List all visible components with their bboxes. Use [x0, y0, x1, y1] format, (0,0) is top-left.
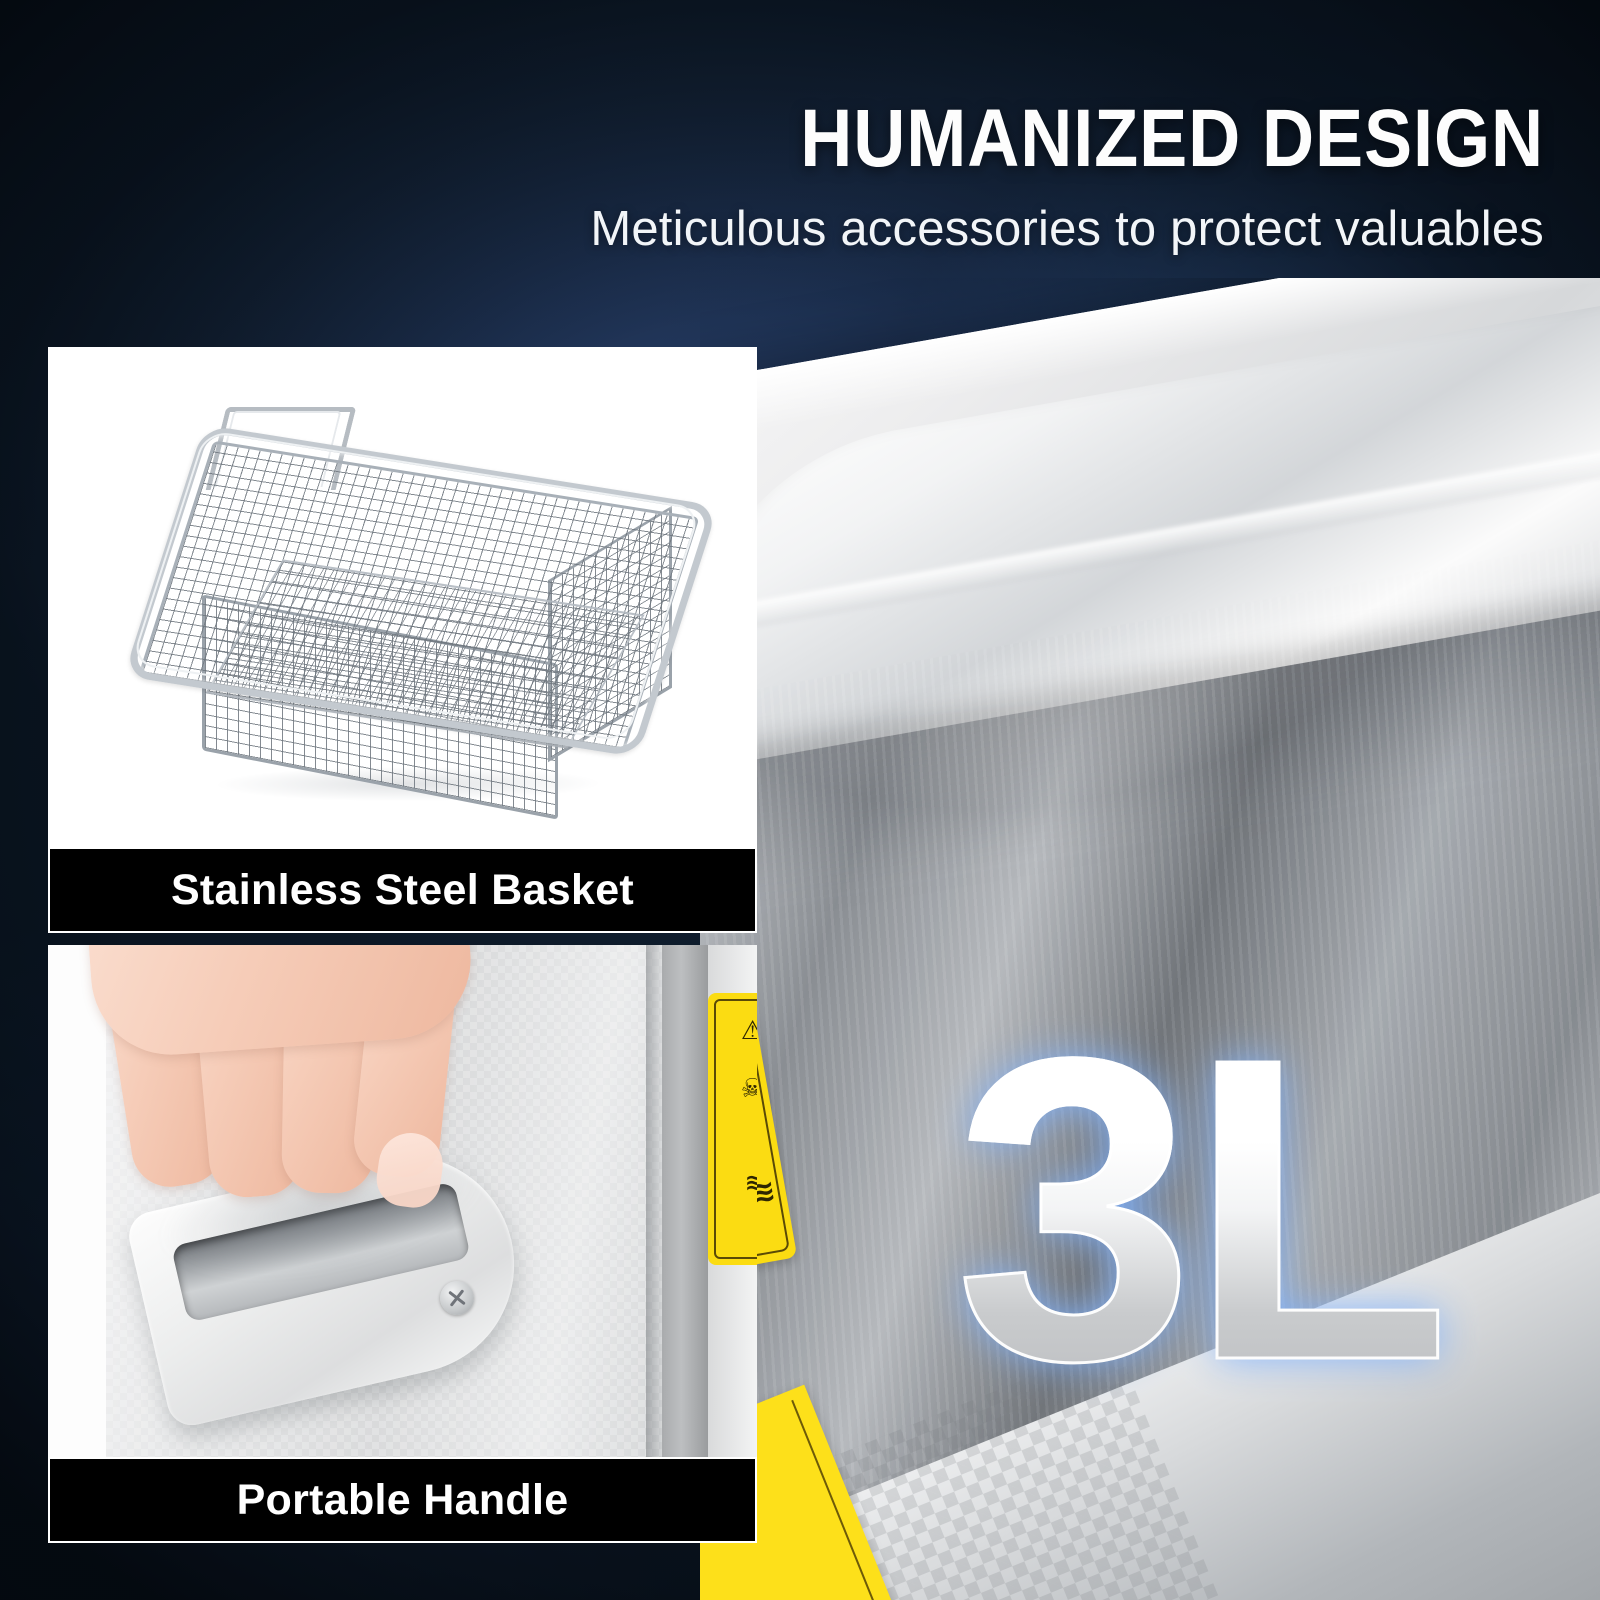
- basket-photo: [48, 347, 757, 847]
- page-subtitle: Meticulous accessories to protect valuab…: [0, 198, 1544, 260]
- caption-bar-basket: Stainless Steel Basket: [48, 847, 757, 933]
- caption-label-basket: Stainless Steel Basket: [171, 866, 634, 915]
- panel-handle: ⚠ ☠ ≋: [48, 945, 757, 1457]
- page-title: HUMANIZED DESIGN: [185, 96, 1544, 182]
- machine-side-panel: [662, 945, 710, 1457]
- hand-illustration: [78, 945, 458, 1287]
- hero-tank-photo: ⚠ ☠ ≋ tank ! ice vice, can drain: [700, 278, 1600, 1600]
- handle-photo: ⚠ ☠ ≋: [48, 945, 757, 1457]
- handle-warning-icon-1: ⚠: [741, 1017, 757, 1043]
- handle-warning-icon-2: ☠: [741, 1075, 757, 1101]
- product-feature-image: ⚠ ☠ ≋ tank ! ice vice, can drain 3L 3L H…: [0, 0, 1600, 1600]
- caption-label-handle: Portable Handle: [237, 1476, 569, 1525]
- handle-warning-sticker: ⚠ ☠ ≋: [708, 993, 757, 1265]
- header-block: HUMANIZED DESIGN Meticulous accessories …: [0, 96, 1600, 260]
- panel-basket: [48, 347, 757, 847]
- handle-warning-icon-3: ≋: [745, 1169, 757, 1195]
- caption-bar-handle: Portable Handle: [48, 1457, 757, 1543]
